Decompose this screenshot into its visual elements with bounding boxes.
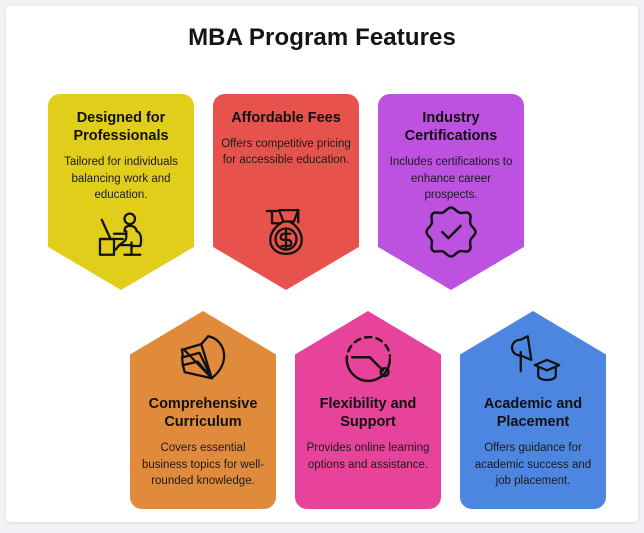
clock-icon	[339, 331, 397, 387]
page-title: MBA Program Features	[6, 24, 638, 52]
card-heading: Industry Certifications	[386, 109, 516, 145]
card-heading: Flexibility and Support	[303, 395, 433, 431]
certification-badge-icon	[422, 204, 480, 260]
card-description: Offers guidance for academic success and…	[468, 440, 598, 489]
open-book-icon	[174, 331, 232, 387]
card-heading: Academic and Placement	[468, 395, 598, 431]
card-description: Provides online learning options and ass…	[303, 440, 433, 473]
infographic-canvas: MBA Program Features Designed for Profes…	[6, 6, 638, 522]
card-heading: Designed for Professionals	[56, 109, 186, 145]
card-description: Offers competitive pricing for accessibl…	[221, 136, 351, 169]
person-at-desk-icon	[92, 204, 150, 260]
feature-card-comprehensive-curriculum[interactable]: Comprehensive Curriculum Covers essentia…	[130, 311, 276, 509]
card-description: Covers essential business topics for wel…	[138, 440, 268, 489]
feature-card-flexibility-and-support[interactable]: Flexibility and Support Provides online …	[295, 311, 441, 509]
money-bag-icon	[257, 204, 315, 260]
feature-card-academic-and-placement[interactable]: Academic and Placement Offers guidance f…	[460, 311, 606, 509]
card-heading: Affordable Fees	[231, 109, 341, 127]
card-description: Tailored for individuals balancing work …	[56, 154, 186, 203]
flag-graduation-cap-icon	[504, 331, 562, 387]
feature-card-industry-certifications[interactable]: Industry Certifications Includes certifi…	[378, 94, 524, 290]
feature-card-designed-for-professionals[interactable]: Designed for Professionals Tailored for …	[48, 94, 194, 290]
card-heading: Comprehensive Curriculum	[138, 395, 268, 431]
feature-card-affordable-fees[interactable]: Affordable Fees Offers competitive prici…	[213, 94, 359, 290]
card-description: Includes certifications to enhance caree…	[386, 154, 516, 203]
